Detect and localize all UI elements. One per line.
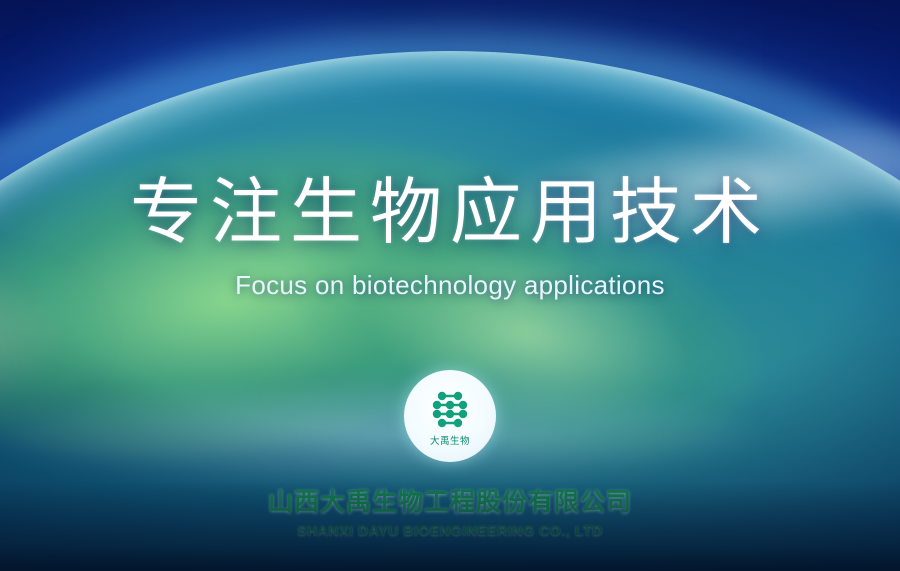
headline-english: Focus on biotechnology applications bbox=[0, 270, 900, 301]
headline-block: 专注生物应用技术 Focus on biotechnology applicat… bbox=[0, 176, 900, 301]
molecule-icon bbox=[426, 386, 474, 432]
poster-image: 专注生物应用技术 Focus on biotechnology applicat… bbox=[0, 0, 900, 571]
bottom-shadow bbox=[0, 481, 900, 571]
headline-chinese: 专注生物应用技术 bbox=[0, 176, 900, 248]
logo-wordmark: 大禹生物 bbox=[430, 433, 470, 447]
company-logo: 大禹生物 bbox=[404, 370, 496, 462]
